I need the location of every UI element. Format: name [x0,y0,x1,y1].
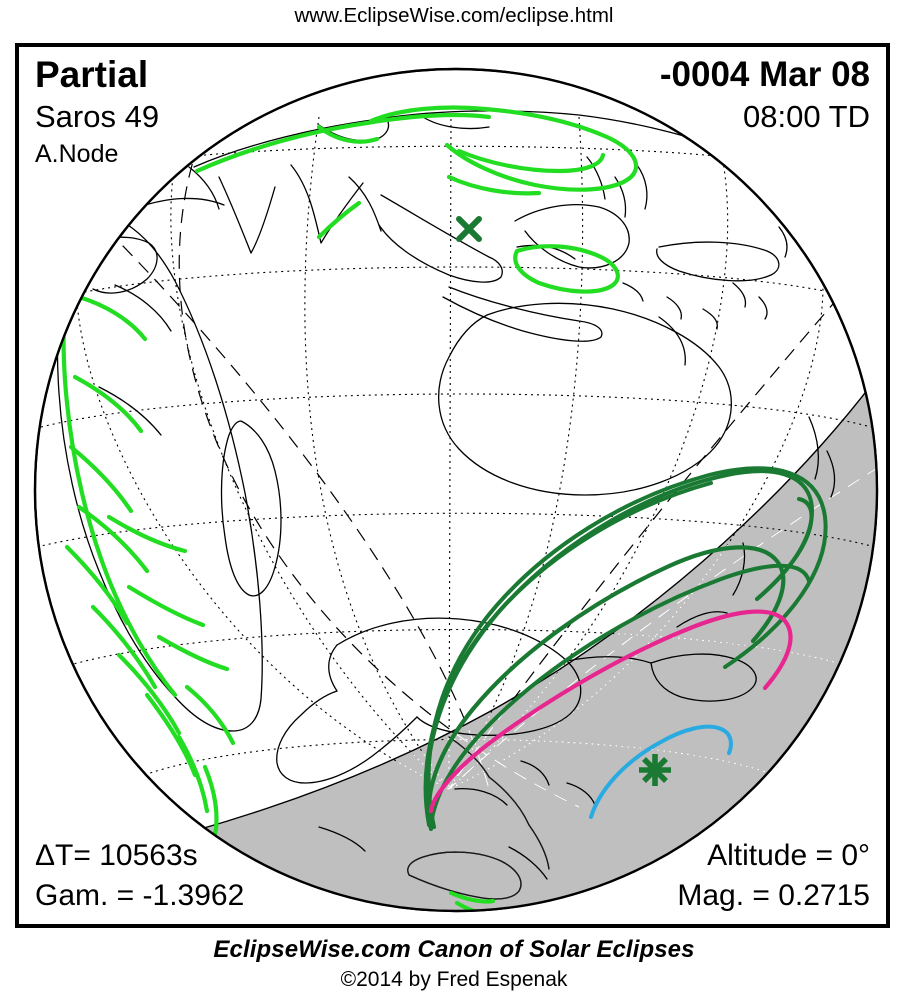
footer-credit: ©2014 by Fred Espenak [0,968,908,992]
gamma-label: Gam. = -1.3962 [35,876,244,916]
node-label: A.Node [35,137,159,171]
eclipse-info-bottom-left: ΔT= 10563s Gam. = -1.3962 [35,836,244,916]
eclipse-map-frame: Partial Saros 49 A.Node -0004 Mar 08 08:… [15,43,890,928]
eclipse-info-bottom-right: Altitude = 0° Mag. = 0.2715 [677,836,870,916]
eclipse-info-top-left: Partial Saros 49 A.Node [35,53,159,171]
eclipse-map-page: www.EclipseWise.com/eclipse.html [0,0,908,1004]
delta-t-label: ΔT= 10563s [35,836,244,876]
eclipse-type-label: Partial [35,53,159,97]
eclipse-date-label: -0004 Mar 08 [660,53,870,97]
magnitude-label: Mag. = 0.2715 [677,876,870,916]
source-url: www.EclipseWise.com/eclipse.html [0,4,908,28]
eclipse-info-top-right: -0004 Mar 08 08:00 TD [660,53,870,137]
altitude-label: Altitude = 0° [677,836,870,876]
eclipse-time-label: 08:00 TD [660,97,870,137]
saros-label: Saros 49 [35,97,159,137]
globe-map [19,47,886,924]
footer-title: EclipseWise.com Canon of Solar Eclipses [0,936,908,964]
